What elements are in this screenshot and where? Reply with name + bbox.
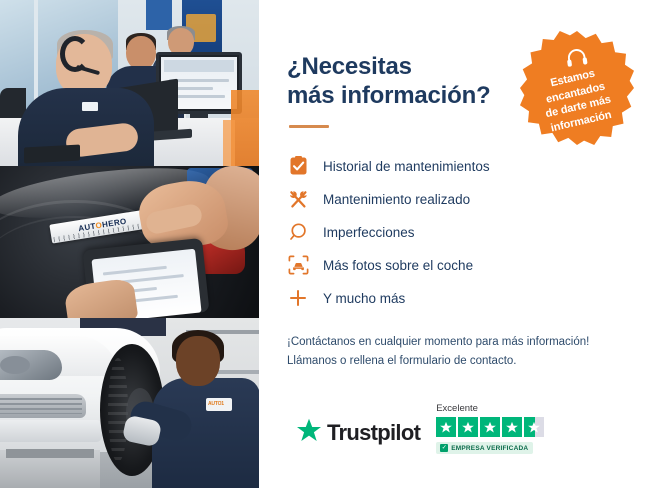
feature-label: Imperfecciones xyxy=(323,225,415,240)
feature-label: Y mucho más xyxy=(323,291,405,306)
tablet-line xyxy=(103,266,167,276)
headlight-lens xyxy=(0,356,30,374)
car-headlight xyxy=(0,350,62,380)
trustpilot-brand-name: Trustpilot xyxy=(327,420,420,446)
orange-partition xyxy=(231,90,259,166)
title-line-2: más información? xyxy=(287,82,491,109)
star-rating xyxy=(436,417,544,437)
desk-tablet xyxy=(24,145,80,164)
car-bumper xyxy=(0,420,102,442)
title-line-1: ¿Necesitas xyxy=(287,53,412,80)
orange-partition-secondary xyxy=(223,120,235,166)
grille-slats xyxy=(0,398,82,414)
tire-tread xyxy=(108,358,128,462)
trustpilot-star-icon xyxy=(296,418,322,448)
vehicle-inspection-photo: AUTOHERO xyxy=(0,166,259,318)
tools-icon xyxy=(287,188,309,210)
feature-label: Más fotos sobre el coche xyxy=(323,258,473,273)
rating-label: Excelente xyxy=(436,403,478,414)
star-half xyxy=(524,417,544,437)
check-icon: ✓ xyxy=(440,444,448,452)
car-grille xyxy=(0,394,86,418)
status-badge: Estamos encantados de darte más informac… xyxy=(520,31,634,145)
feature-label: Mantenimiento realizado xyxy=(323,192,470,207)
car-lift-arm xyxy=(6,449,94,458)
feature-list: Historial de mantenimientos Mantenimient… xyxy=(287,150,620,315)
title-divider xyxy=(289,125,329,128)
trustpilot-score-block: Excelente ✓ EMPRES xyxy=(436,403,544,454)
mechanic-wheel-photo: AUTO1 xyxy=(0,318,259,488)
agent-2-head xyxy=(126,36,156,70)
contact-line-2: Llámanos o rellena el formulario de cont… xyxy=(287,352,620,371)
trustpilot-rating[interactable]: Trustpilot Excelente xyxy=(296,403,544,454)
feature-item-fotos: Más fotos sobre el coche xyxy=(287,249,620,282)
feature-item-mas: Y mucho más xyxy=(287,282,620,315)
clipboard-check-icon xyxy=(287,155,309,177)
feature-item-historial: Historial de mantenimientos xyxy=(287,150,620,183)
photo-collage: AUTOHERO xyxy=(0,0,259,488)
screen-row xyxy=(169,79,229,82)
mechanic-uniform-logo: AUTO1 xyxy=(206,398,232,411)
verified-label: EMPRESA VERIFICADA xyxy=(451,445,528,452)
verified-badge: ✓ EMPRESA VERIFICADA xyxy=(436,442,533,454)
blue-wall-panel-secondary xyxy=(146,0,172,30)
star-filled xyxy=(458,417,478,437)
car-focus-icon xyxy=(287,254,309,276)
uniform-logo-text: AUTO1 xyxy=(208,401,224,407)
screen-toolbar xyxy=(164,60,234,72)
feature-item-imperfecciones: Imperfecciones xyxy=(287,216,620,249)
contact-text: ¡Contáctanos en cualquier momento para m… xyxy=(287,333,620,371)
agent-name-badge xyxy=(82,102,98,111)
feature-label: Historial de mantenimientos xyxy=(323,159,490,174)
feature-item-mantenimiento: Mantenimiento realizado xyxy=(287,183,620,216)
star-filled xyxy=(436,417,456,437)
trustpilot-logo[interactable]: Trustpilot xyxy=(296,418,420,454)
star-filled xyxy=(502,417,522,437)
mechanic-head xyxy=(176,336,220,386)
magnifier-icon xyxy=(287,221,309,243)
contact-line-1: ¡Contáctanos en cualquier momento para m… xyxy=(287,333,620,352)
call-center-agents-photo xyxy=(0,0,259,166)
plus-icon xyxy=(287,287,309,309)
star-filled xyxy=(480,417,500,437)
promo-banner: AUTOHERO xyxy=(0,0,650,488)
